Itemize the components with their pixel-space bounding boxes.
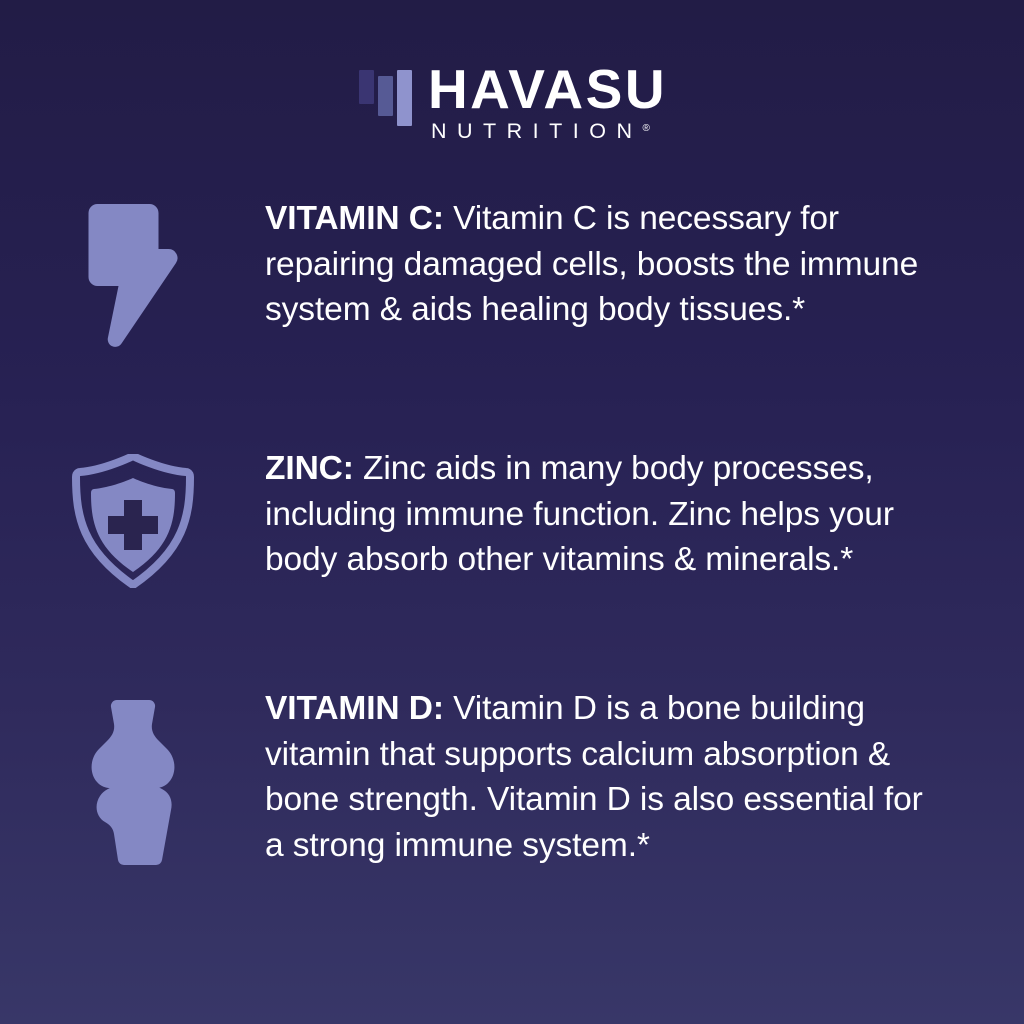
brand-subtitle: NUTRITION® <box>428 117 667 144</box>
logo-bars-icon <box>357 62 419 134</box>
benefit-body: Zinc aids in many body processes, includ… <box>265 450 894 578</box>
shield-cross-icon <box>72 454 194 588</box>
lightning-bolt-icon <box>85 200 181 350</box>
benefit-text-zinc: ZINC: Zinc aids in many body processes, … <box>265 446 965 583</box>
registered-trademark-icon: ® <box>643 123 650 134</box>
benefit-label: ZINC: <box>265 450 354 487</box>
benefit-icon-cell <box>0 196 265 350</box>
benefit-row-vitamin-d: VITAMIN D: Vitamin D is a bone building … <box>0 686 1024 870</box>
knee-joint-bone-icon <box>83 698 183 870</box>
benefit-text-vitamin-d: VITAMIN D: Vitamin D is a bone building … <box>265 686 965 868</box>
brand-logo: HAVASU NUTRITION® <box>0 62 1024 144</box>
logo-bar-1 <box>359 70 374 104</box>
benefit-icon-cell <box>0 686 265 870</box>
brand-name: HAVASU <box>428 63 667 117</box>
benefit-row-zinc: ZINC: Zinc aids in many body processes, … <box>0 446 1024 588</box>
benefit-icon-cell <box>0 446 265 588</box>
logo-bar-3 <box>397 70 412 126</box>
benefit-label: VITAMIN C: <box>265 200 444 237</box>
benefit-row-vitamin-c: VITAMIN C: Vitamin C is necessary for re… <box>0 196 1024 350</box>
brand-subtitle-text: NUTRITION <box>431 119 643 143</box>
benefit-label: VITAMIN D: <box>265 690 444 727</box>
infographic-page: HAVASU NUTRITION® VITAMIN C: Vitamin C i… <box>0 0 1024 1024</box>
logo-bar-2 <box>378 76 393 116</box>
benefit-text-vitamin-c: VITAMIN C: Vitamin C is necessary for re… <box>265 196 965 333</box>
